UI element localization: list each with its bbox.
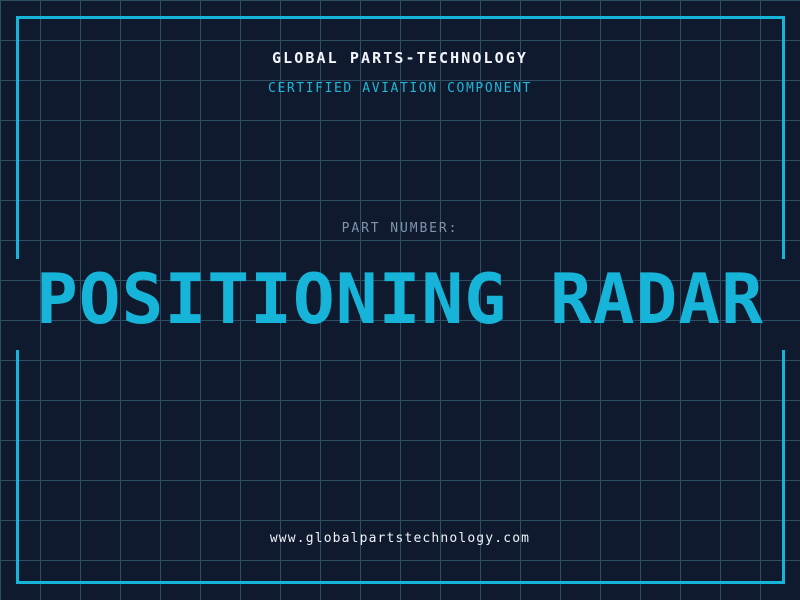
part-name-heading: POSITIONING RADAR: [0, 260, 800, 340]
blueprint-part-card: GLOBAL PARTS-TECHNOLOGY CERTIFIED AVIATI…: [0, 0, 800, 600]
certification-subtitle: CERTIFIED AVIATION COMPONENT: [0, 81, 800, 96]
card-content: GLOBAL PARTS-TECHNOLOGY CERTIFIED AVIATI…: [0, 0, 800, 600]
part-number-label: PART NUMBER:: [0, 221, 800, 236]
website-url: www.globalpartstechnology.com: [0, 531, 800, 546]
company-name: GLOBAL PARTS-TECHNOLOGY: [0, 49, 800, 67]
